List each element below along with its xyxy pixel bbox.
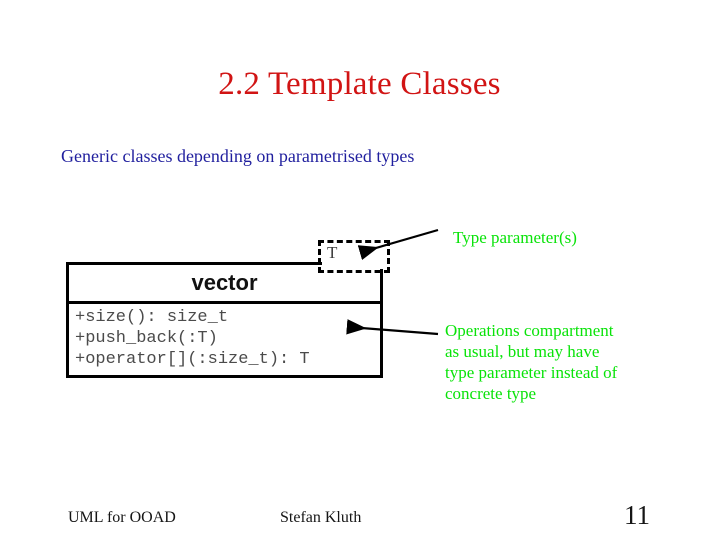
annotation-line: type parameter instead of <box>445 362 685 383</box>
uml-operations-compartment: +size(): size_t +push_back(:T) +operator… <box>69 304 380 375</box>
uml-class-box: vector +size(): size_t +push_back(:T) +o… <box>66 262 383 378</box>
annotation-type-parameter: Type parameter(s) <box>453 227 577 248</box>
template-parameter-label: T <box>327 243 337 263</box>
uml-operation-row: +size(): size_t <box>75 307 380 328</box>
slide-canvas: 2.2 Template Classes Generic classes dep… <box>0 0 719 539</box>
footer-left-text: UML for OOAD <box>68 509 176 527</box>
footer-center-text: Stefan Kluth <box>280 509 361 527</box>
page-title: 2.2 Template Classes <box>0 66 719 103</box>
annotation-line: Operations compartment <box>445 320 685 341</box>
annotation-operations-compartment: Operations compartment as usual, but may… <box>445 320 685 404</box>
page-number: 11 <box>624 500 650 531</box>
uml-operation-row: +push_back(:T) <box>75 328 380 349</box>
uml-operation-row: +operator[](:size_t): T <box>75 349 380 370</box>
slide-subtitle: Generic classes depending on parametrise… <box>61 146 414 167</box>
annotation-line: as usual, but may have <box>445 341 685 362</box>
annotation-line: concrete type <box>445 383 685 404</box>
